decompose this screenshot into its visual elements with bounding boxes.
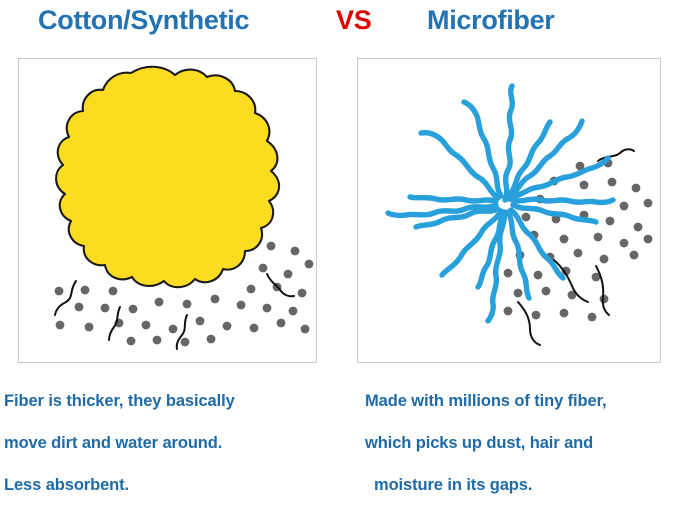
fiber-strand: [512, 199, 613, 202]
header-row: Cotton/Synthetic VS Microfiber: [0, 0, 679, 52]
right-caption: Made with millions of tiny fiber, which …: [365, 383, 675, 509]
fiber-strand: [410, 197, 496, 201]
caption-line: Less absorbent.: [4, 467, 344, 509]
microfiber-panel: [357, 58, 661, 363]
cotton-synthetic-panel: [18, 58, 317, 363]
microfiber-strands-group: [388, 86, 613, 321]
right-column-title: Microfiber: [427, 3, 555, 37]
caption-line: Made with millions of tiny fiber,: [365, 383, 675, 425]
thick-fiber-blob: [56, 67, 279, 287]
infographic-root: Cotton/Synthetic VS Microfiber: [0, 0, 679, 498]
caption-line: moisture in its gaps.: [365, 467, 675, 509]
fiber-strand: [505, 86, 512, 200]
left-column-title: Cotton/Synthetic: [38, 3, 249, 37]
caption-line: Fiber is thicker, they basically: [4, 383, 344, 425]
fiber-strand: [508, 212, 529, 298]
caption-line: which picks up dust, hair and: [365, 425, 675, 467]
versus-label: VS: [336, 3, 371, 37]
cotton-synthetic-illustration: [19, 59, 316, 362]
caption-line: move dirt and water around.: [4, 425, 344, 467]
microfiber-illustration: [358, 59, 660, 362]
left-caption: Fiber is thicker, they basically move di…: [4, 383, 344, 509]
